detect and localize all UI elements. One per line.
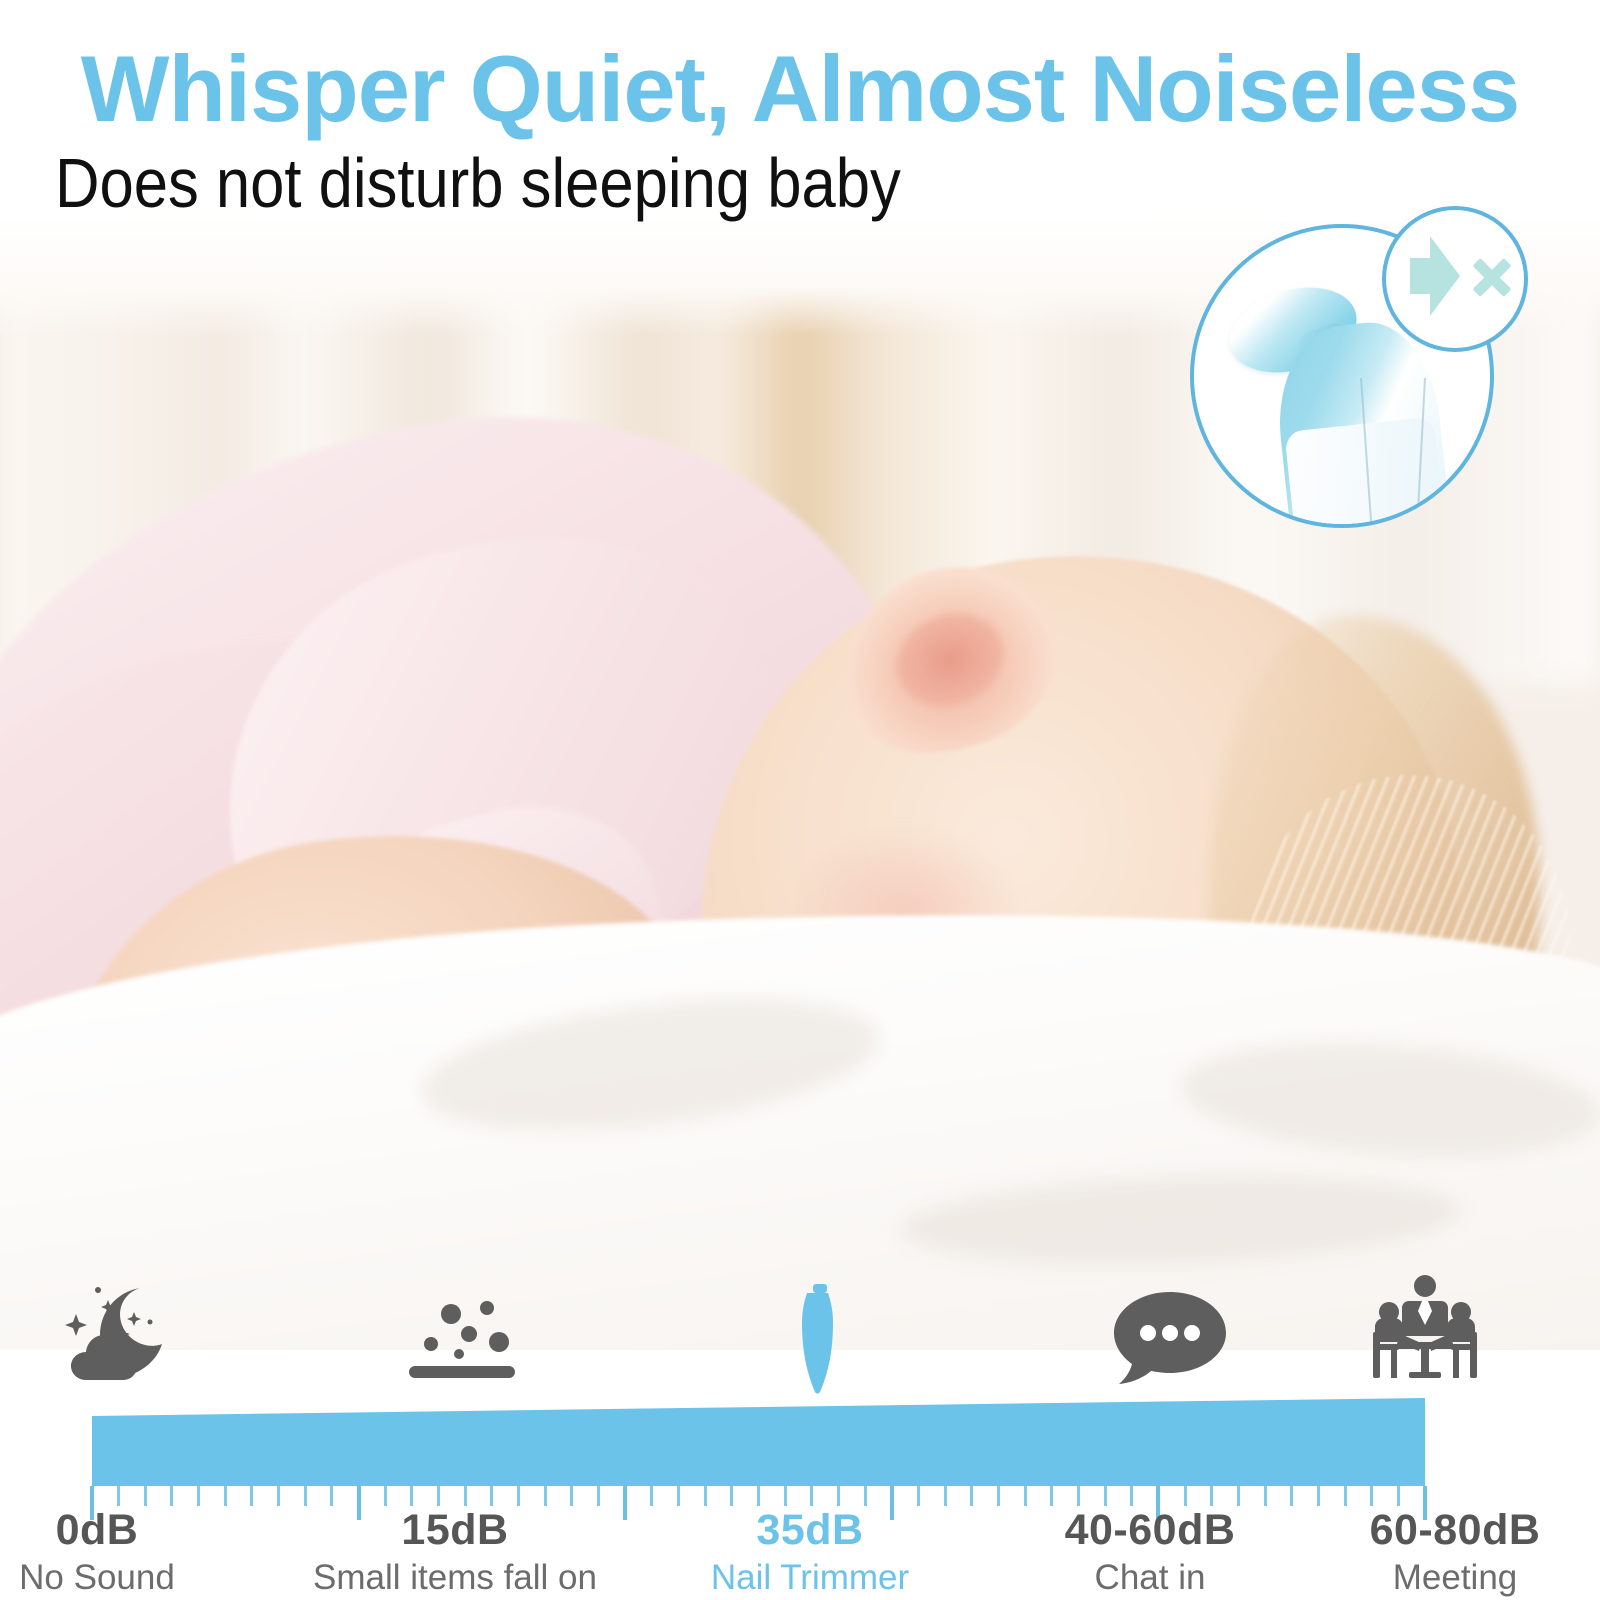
scale-tick-minor xyxy=(1077,1486,1080,1506)
scale-label-3: 40-60dB Chat ina low voice xyxy=(980,1508,1320,1600)
scale-tick-minor xyxy=(1050,1486,1053,1506)
page-title: Whisper Quiet, Almost Noiseless xyxy=(0,42,1600,136)
scale-desc-2: Nail TrimmerOperting Sound xyxy=(640,1558,980,1600)
scale-tick-minor xyxy=(464,1486,467,1506)
scale-tick-minor xyxy=(517,1486,520,1506)
nail-trimmer-icon xyxy=(790,1284,850,1394)
scale-tick-minor xyxy=(1184,1486,1187,1506)
chat-bubble-icon xyxy=(1110,1288,1230,1388)
scale-tick-minor xyxy=(704,1486,707,1506)
infographic-page: Whisper Quiet, Almost Noiseless Does not… xyxy=(0,0,1600,1600)
scale-icon-0 xyxy=(42,1282,202,1397)
scale-tick-minor xyxy=(1130,1486,1133,1506)
scale-label-1: 15dB Small items fall onthe ground xyxy=(285,1508,625,1600)
scale-tick-minor xyxy=(730,1486,733,1506)
scale-tick-minor xyxy=(490,1486,493,1506)
scale-tick-minor xyxy=(650,1486,653,1506)
decibel-scale: 0dB No Sound 15dB Small items fall onthe… xyxy=(0,1270,1600,1600)
scale-tick-minor xyxy=(997,1486,1000,1506)
scale-icon-4 xyxy=(1345,1272,1505,1397)
scale-tick-minor xyxy=(677,1486,680,1506)
scale-tick-minor xyxy=(384,1486,387,1506)
scale-tick-minor xyxy=(1317,1486,1320,1506)
scale-tick-minor xyxy=(1210,1486,1213,1506)
scale-tick-minor xyxy=(757,1486,760,1506)
scale-label-0: 0dB No Sound xyxy=(0,1508,267,1598)
scale-tick-minor xyxy=(917,1486,920,1506)
scale-tick-minor xyxy=(1104,1486,1107,1506)
scale-tick-minor xyxy=(277,1486,280,1506)
scale-tick-minor xyxy=(117,1486,120,1506)
scale-tick-minor xyxy=(810,1486,813,1506)
falling-particles-icon xyxy=(395,1300,525,1390)
scale-tick-minor xyxy=(970,1486,973,1506)
scale-icon-2 xyxy=(740,1284,900,1399)
scale-tick-minor xyxy=(437,1486,440,1506)
decibel-bar xyxy=(92,1398,1425,1486)
scale-tick-minor xyxy=(1397,1486,1400,1506)
scale-db-1: 15dB xyxy=(285,1508,625,1553)
scale-desc-3: Chat ina low voice xyxy=(980,1558,1320,1600)
scale-tick-minor xyxy=(144,1486,147,1506)
scale-db-0: 0dB xyxy=(0,1508,267,1553)
scale-db-4: 60-80dB xyxy=(1285,1508,1600,1553)
scale-tick-minor xyxy=(410,1486,413,1506)
scale-tick-minor xyxy=(1370,1486,1373,1506)
product-badge xyxy=(1190,206,1520,536)
scale-desc-4: MeetingDiscussion xyxy=(1285,1558,1600,1600)
mute-indicator-circle xyxy=(1382,206,1528,352)
scale-tick-minor xyxy=(304,1486,307,1506)
scale-tick-minor xyxy=(197,1486,200,1506)
scale-db-2: 35dB xyxy=(640,1508,980,1553)
speaker-cone-icon xyxy=(1430,236,1460,316)
scale-tick-minor xyxy=(224,1486,227,1506)
scale-tick-minor xyxy=(1024,1486,1027,1506)
scale-tick-minor xyxy=(864,1486,867,1506)
scale-icon-1 xyxy=(380,1300,540,1395)
scale-tick-minor xyxy=(1290,1486,1293,1506)
scale-tick-minor xyxy=(170,1486,173,1506)
scale-desc-1: Small items fall onthe ground xyxy=(285,1558,625,1600)
scale-tick-minor xyxy=(1344,1486,1347,1506)
scale-tick-minor xyxy=(330,1486,333,1506)
moon-cloud-stars-icon xyxy=(62,1282,182,1392)
scale-tick-minor xyxy=(570,1486,573,1506)
scale-label-4: 60-80dB MeetingDiscussion xyxy=(1285,1508,1600,1600)
meeting-people-icon xyxy=(1365,1272,1485,1392)
scale-tick-minor xyxy=(837,1486,840,1506)
scale-db-3: 40-60dB xyxy=(980,1508,1320,1553)
scale-tick-minor xyxy=(250,1486,253,1506)
scale-tick-minor xyxy=(1264,1486,1267,1506)
scale-tick-minor xyxy=(544,1486,547,1506)
scale-tick-minor xyxy=(784,1486,787,1506)
scale-tick-minor xyxy=(944,1486,947,1506)
scale-label-2: 35dB Nail TrimmerOperting Sound xyxy=(640,1508,980,1600)
scale-tick-minor xyxy=(597,1486,600,1506)
scale-icon-3 xyxy=(1090,1288,1250,1393)
page-subtitle: Does not disturb sleeping baby xyxy=(55,148,901,218)
scale-desc-0: No Sound xyxy=(0,1558,267,1598)
scale-tick-minor xyxy=(1237,1486,1240,1506)
